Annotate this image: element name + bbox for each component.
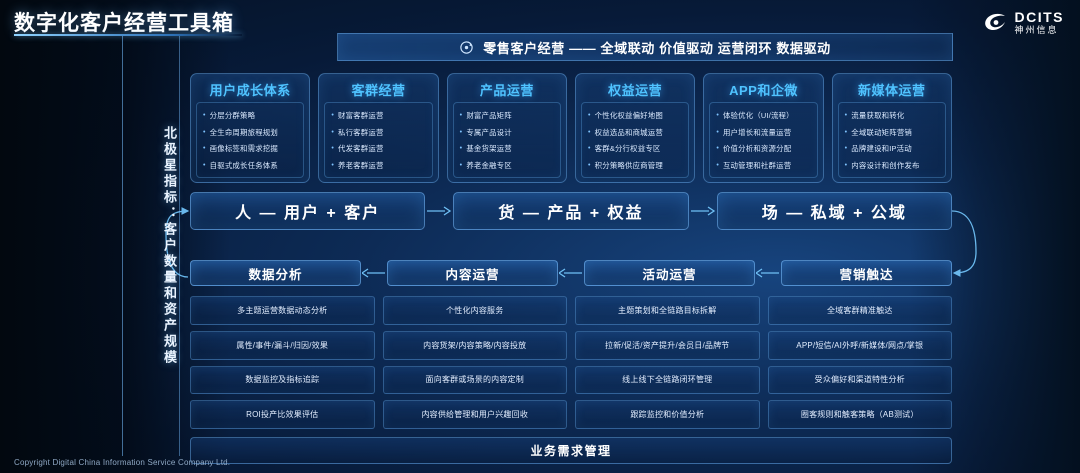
card-bullet-label: 私行客群运营 — [338, 128, 384, 137]
bullet-dot-icon: • — [716, 128, 719, 137]
banner-bar: 零售客户经营 —— 全域联动 价值驱动 运营闭环 数据驱动 — [337, 33, 953, 61]
card-bullet-label: 全域联动矩阵营销 — [851, 128, 912, 137]
card-bullet: •画像标签和需求挖掘 — [201, 144, 300, 153]
card-bullet: •全生命周期旅程规划 — [201, 128, 300, 137]
card-bullet-list: •财富产品矩阵•专属产品设计•基金货架运营•养老金融专区 — [453, 102, 561, 178]
card-bullet: •客群&分行权益专区 — [586, 144, 685, 153]
card-bullet-label: 品牌建设和IP活动 — [851, 144, 912, 153]
card-bullet: •代发客群运营 — [329, 144, 428, 153]
bullet-dot-icon: • — [716, 161, 719, 170]
card-bullet: •积分策略供应商管理 — [586, 161, 685, 170]
section-cell[interactable]: ROI投产比效果评估 — [190, 400, 375, 429]
card-bullet-list: •流量获取和转化•全域联动矩阵营销•品牌建设和IP活动•内容设计和创作发布 — [838, 102, 946, 178]
section-header[interactable]: 数据分析 — [190, 260, 361, 286]
card-bullet-label: 画像标签和需求挖掘 — [210, 144, 278, 153]
card-bullet-label: 专属产品设计 — [466, 128, 512, 137]
arrow-left-icon — [756, 267, 780, 279]
section-cell[interactable]: 拉新/促活/资产提升/会员日/品牌节 — [575, 331, 760, 360]
card-bullet-label: 财富产品矩阵 — [466, 111, 512, 120]
bullet-dot-icon: • — [203, 161, 206, 170]
card-bullet-label: 养老金融专区 — [466, 161, 512, 170]
card-title: 新媒体运营 — [838, 79, 946, 102]
card-bullet: •分层分群策略 — [201, 111, 300, 120]
bullet-dot-icon: • — [716, 111, 719, 120]
bullet-dot-icon: • — [331, 128, 334, 137]
bullet-dot-icon: • — [203, 128, 206, 137]
north-star-label: 北极星指标：客户数量和资产规模 — [123, 90, 179, 402]
card-bullet-list: •财富客群运营•私行客群运营•代发客群运营•养老客群运营 — [324, 102, 432, 178]
section-cell[interactable]: 线上线下全链路闭环管理 — [575, 366, 760, 395]
section-cell[interactable]: 个性化内容服务 — [383, 296, 568, 325]
target-cycle-icon — [459, 40, 474, 55]
card-bullet-label: 价值分析和资源分配 — [723, 144, 791, 153]
logo-cn-text: 神州信息 — [1015, 26, 1065, 35]
logo-en-text: DCITS — [1015, 10, 1065, 24]
capability-card[interactable]: 产品运营•财富产品矩阵•专属产品设计•基金货架运营•养老金融专区 — [447, 73, 567, 183]
arrow-left-icon — [362, 267, 386, 279]
card-bullet: •个性化权益偏好地图 — [586, 111, 685, 120]
slide-canvas: 数字化客户经营工具箱 DCITS 神州信息 北极星指标：客户数量和资产规模 零售… — [0, 0, 1080, 473]
section-cell[interactable]: 受众偏好和渠道特性分析 — [768, 366, 953, 395]
card-bullet-label: 体验优化（UI/流程） — [723, 111, 794, 120]
card-bullet: •养老客群运营 — [329, 161, 428, 170]
card-bullet: •内容设计和创作发布 — [843, 161, 942, 170]
bullet-dot-icon: • — [588, 111, 591, 120]
card-title: 客群经营 — [324, 79, 432, 102]
bullet-dot-icon: • — [460, 161, 463, 170]
card-bullet: •用户增长和流量运营 — [714, 128, 813, 137]
card-bullet: •全域联动矩阵营销 — [843, 128, 942, 137]
capability-card[interactable]: 权益运营•个性化权益偏好地图•权益选品和商城运营•客群&分行权益专区•积分策略供… — [575, 73, 695, 183]
card-bullet-list: •体验优化（UI/流程）•用户增长和流量运营•价值分析和资源分配•互动管理和社群… — [709, 102, 817, 178]
bullet-dot-icon: • — [331, 144, 334, 153]
section-header[interactable]: 营销触达 — [781, 260, 952, 286]
page-title: 数字化客户经营工具箱 — [14, 7, 234, 37]
card-bullet-label: 内容设计和创作发布 — [851, 161, 919, 170]
capability-cards: 用户成长体系•分层分群策略•全生命周期旅程规划•画像标签和需求挖掘•自驱式成长任… — [190, 73, 952, 183]
card-bullet-label: 流量获取和转化 — [851, 111, 904, 120]
card-bullet: •品牌建设和IP活动 — [843, 144, 942, 153]
card-bullet: •基金货架运营 — [458, 144, 557, 153]
card-bullet-label: 权益选品和商城运营 — [595, 128, 663, 137]
capability-card[interactable]: 新媒体运营•流量获取和转化•全域联动矩阵营销•品牌建设和IP活动•内容设计和创作… — [832, 73, 952, 183]
bullet-dot-icon: • — [331, 161, 334, 170]
bullet-dot-icon: • — [203, 111, 206, 120]
section-cell[interactable]: 内容货架/内容策略/内容投放 — [383, 331, 568, 360]
flow-arrow — [425, 205, 453, 217]
section-cell[interactable]: APP/短信/AI外呼/新媒体/网点/掌银 — [768, 331, 953, 360]
bullet-dot-icon: • — [588, 128, 591, 137]
section-cell[interactable]: 数据监控及指标追踪 — [190, 366, 375, 395]
card-bullet: •互动管理和社群运营 — [714, 161, 813, 170]
card-bullet: •财富产品矩阵 — [458, 111, 557, 120]
section-cell[interactable]: 属性/事件/漏斗/归因/效果 — [190, 331, 375, 360]
card-bullet-label: 自驱式成长任务体系 — [210, 161, 278, 170]
card-bullet-label: 养老客群运营 — [338, 161, 384, 170]
bullet-dot-icon: • — [845, 128, 848, 137]
section-column: 全域客群精准触达APP/短信/AI外呼/新媒体/网点/掌银受众偏好和渠道特性分析… — [768, 296, 953, 429]
dcits-swirl-icon — [983, 12, 1009, 34]
card-bullet-label: 用户增长和流量运营 — [723, 128, 791, 137]
section-cell[interactable]: 内容供给管理和用户兴趣回收 — [383, 400, 568, 429]
card-title: APP和企微 — [709, 79, 817, 102]
section-header[interactable]: 内容运营 — [387, 260, 558, 286]
card-bullet-label: 基金货架运营 — [466, 144, 512, 153]
section-arrow — [361, 267, 387, 279]
flow-box[interactable]: 人 — 用户 + 客户 — [190, 192, 425, 230]
card-bullet: •价值分析和资源分配 — [714, 144, 813, 153]
brand-logo: DCITS 神州信息 — [983, 10, 1065, 35]
card-bullet: •专属产品设计 — [458, 128, 557, 137]
section-column: 个性化内容服务内容货架/内容策略/内容投放面向客群或场景的内容定制内容供给管理和… — [383, 296, 568, 429]
bullet-dot-icon: • — [460, 128, 463, 137]
card-bullet-list: •个性化权益偏好地图•权益选品和商城运营•客群&分行权益专区•积分策略供应商管理 — [581, 102, 689, 178]
section-grid: 多主题运营数据动态分析属性/事件/漏斗/归因/效果数据监控及指标追踪ROI投产比… — [190, 296, 952, 429]
capability-card[interactable]: APP和企微•体验优化（UI/流程）•用户增长和流量运营•价值分析和资源分配•互… — [703, 73, 823, 183]
section-cell[interactable]: 圈客规则和触客策略（AB测试） — [768, 400, 953, 429]
section-column: 多主题运营数据动态分析属性/事件/漏斗/归因/效果数据监控及指标追踪ROI投产比… — [190, 296, 375, 429]
section-arrow — [755, 267, 781, 279]
bullet-dot-icon: • — [331, 111, 334, 120]
bullet-dot-icon: • — [460, 144, 463, 153]
card-bullet-label: 全生命周期旅程规划 — [210, 128, 278, 137]
bullet-dot-icon: • — [845, 111, 848, 120]
capability-card[interactable]: 客群经营•财富客群运营•私行客群运营•代发客群运营•养老客群运营 — [318, 73, 438, 183]
card-bullet-label: 代发客群运营 — [338, 144, 384, 153]
card-bullet: •流量获取和转化 — [843, 111, 942, 120]
section-header-row: 数据分析内容运营活动运营营销触达 — [190, 260, 952, 286]
card-bullet: •体验优化（UI/流程） — [714, 111, 813, 120]
card-bullet: •私行客群运营 — [329, 128, 428, 137]
card-bullet-label: 互动管理和社群运营 — [723, 161, 791, 170]
section-cell[interactable]: 全域客群精准触达 — [768, 296, 953, 325]
section-arrow — [558, 267, 584, 279]
banner-text: 零售客户经营 —— 全域联动 价值驱动 运营闭环 数据驱动 — [483, 38, 830, 57]
card-bullet: •养老金融专区 — [458, 161, 557, 170]
bullet-dot-icon: • — [845, 161, 848, 170]
card-title: 产品运营 — [453, 79, 561, 102]
card-bullet-label: 财富客群运营 — [338, 111, 384, 120]
section-cell[interactable]: 面向客群或场景的内容定制 — [383, 366, 568, 395]
copyright-text: Copyright Digital China Information Serv… — [14, 458, 230, 467]
flow-arrow — [689, 205, 717, 217]
arrow-right-icon — [426, 205, 452, 217]
section-cell[interactable]: 主题策划和全链路目标拆解 — [575, 296, 760, 325]
card-bullet: •自驱式成长任务体系 — [201, 161, 300, 170]
card-bullet-label: 积分策略供应商管理 — [595, 161, 663, 170]
bullet-dot-icon: • — [588, 161, 591, 170]
section-header[interactable]: 活动运营 — [584, 260, 755, 286]
capability-card[interactable]: 用户成长体系•分层分群策略•全生命周期旅程规划•画像标签和需求挖掘•自驱式成长任… — [190, 73, 310, 183]
card-bullet-label: 分层分群策略 — [210, 111, 256, 120]
card-title: 权益运营 — [581, 79, 689, 102]
card-bullet: •权益选品和商城运营 — [586, 128, 685, 137]
bottom-bar: 业务需求管理 — [190, 437, 952, 464]
north-star-rail: 北极星指标：客户数量和资产规模 — [122, 36, 180, 456]
flow-row: 人 — 用户 + 客户货 — 产品 + 权益场 — 私域 + 公域 — [190, 192, 952, 230]
flow-box[interactable]: 场 — 私域 + 公域 — [717, 192, 952, 230]
card-bullet: •财富客群运营 — [329, 111, 428, 120]
flow-box[interactable]: 货 — 产品 + 权益 — [453, 192, 688, 230]
card-title: 用户成长体系 — [196, 79, 304, 102]
section-cell[interactable]: 跟踪监控和价值分析 — [575, 400, 760, 429]
section-column: 主题策划和全链路目标拆解拉新/促活/资产提升/会员日/品牌节线上线下全链路闭环管… — [575, 296, 760, 429]
arrow-right-icon — [690, 205, 716, 217]
bullet-dot-icon: • — [588, 144, 591, 153]
section-cell[interactable]: 多主题运营数据动态分析 — [190, 296, 375, 325]
card-bullet-label: 客群&分行权益专区 — [595, 144, 661, 153]
card-bullet-list: •分层分群策略•全生命周期旅程规划•画像标签和需求挖掘•自驱式成长任务体系 — [196, 102, 304, 178]
bullet-dot-icon: • — [716, 144, 719, 153]
bullet-dot-icon: • — [845, 144, 848, 153]
bullet-dot-icon: • — [460, 111, 463, 120]
title-underline — [14, 34, 242, 36]
card-bullet-label: 个性化权益偏好地图 — [595, 111, 663, 120]
bullet-dot-icon: • — [203, 144, 206, 153]
arrow-left-icon — [559, 267, 583, 279]
